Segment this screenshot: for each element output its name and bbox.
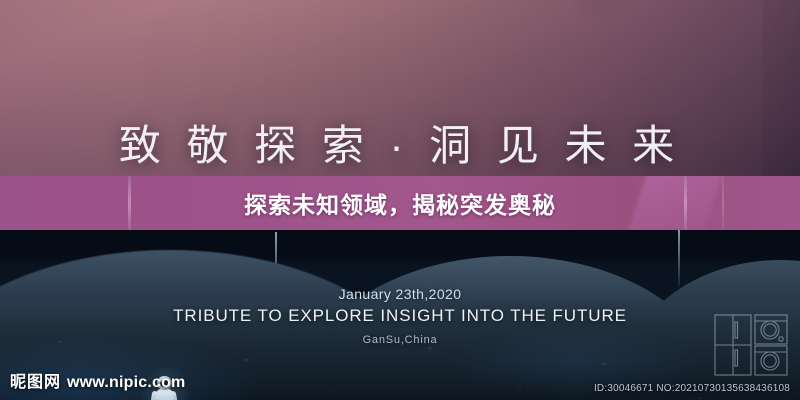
image-id-text: ID:30046671 NO:20210730135638436108: [594, 383, 790, 394]
banner-title-text: 探索未知领域，揭秘突发奥秘: [244, 186, 556, 220]
event-subtitle: TRIBUTE TO EXPLORE INSIGHT INTO THE FUTU…: [0, 306, 800, 326]
fridge-handle-icon: [735, 350, 738, 366]
washer-icon: [755, 315, 787, 344]
poster-image: 致 敬 探 索 · 洞 见 未 来 探索未知领域，揭秘突发奥秘: [0, 0, 800, 400]
banner-light-streak: [128, 176, 131, 230]
banner-light-streak: [722, 176, 724, 230]
banner-light-streak: [684, 176, 687, 230]
site-watermark: 昵图网 www.nipic.com: [10, 368, 185, 392]
watermark-site-name: 昵图网: [10, 368, 61, 392]
overlay-banner: 探索未知领域，揭秘突发奥秘: [0, 176, 800, 230]
dryer-icon: [755, 346, 787, 375]
event-text-block: January 23th,2020 TRIBUTE TO EXPLORE INS…: [0, 286, 800, 346]
antenna-mast-icon: [678, 230, 680, 286]
appliance-lineart: [714, 314, 788, 376]
banner-accent-shape: [628, 176, 723, 230]
event-date: January 23th,2020: [0, 286, 800, 302]
event-location: GanSu,China: [0, 334, 800, 346]
fridge-handle-icon: [735, 322, 738, 338]
watermark-site-url: www.nipic.com: [67, 374, 185, 392]
poster-headline: 致 敬 探 索 · 洞 见 未 来: [0, 112, 800, 173]
